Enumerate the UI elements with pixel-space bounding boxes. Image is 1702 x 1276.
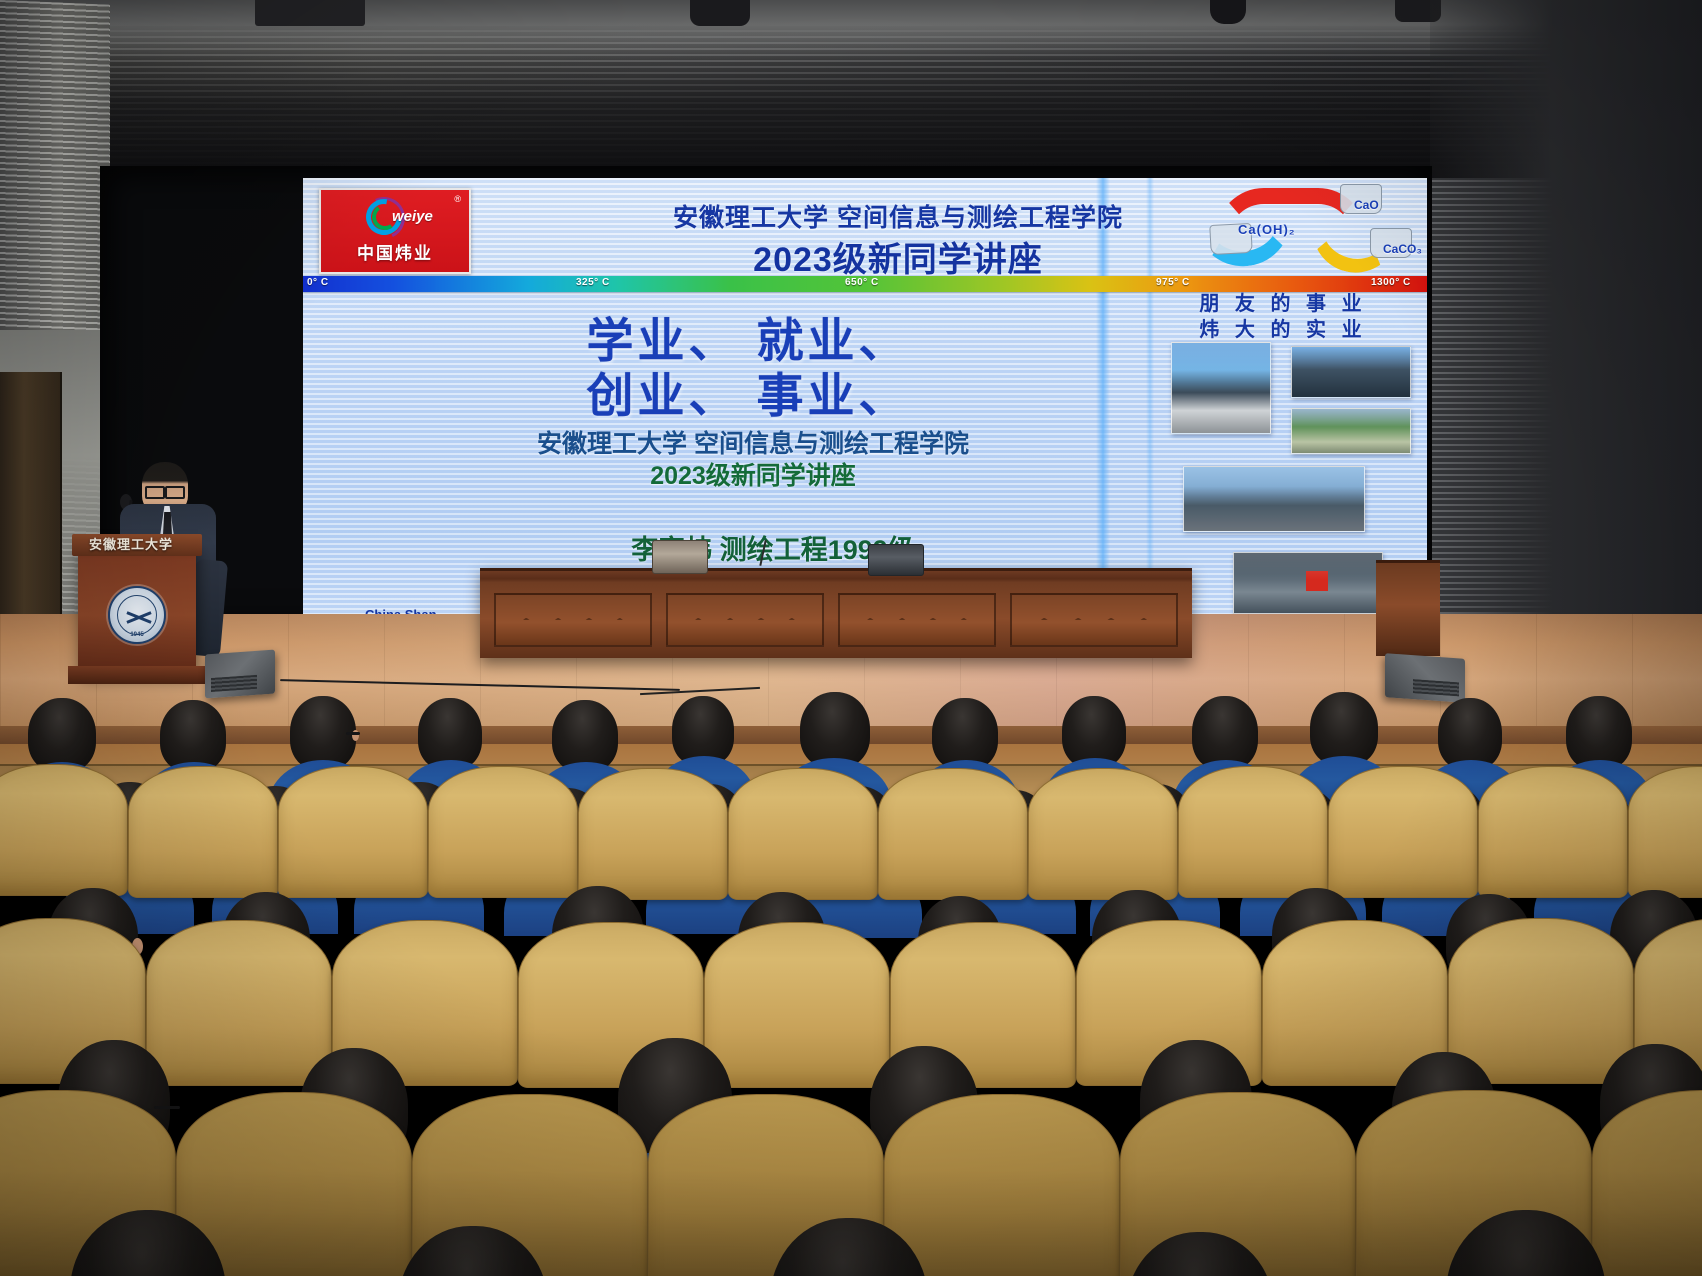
auditorium-seat	[884, 1094, 1120, 1276]
temp-label-325: 325° C	[576, 277, 610, 288]
podium-top-ledge: 安徽理工大学	[72, 534, 202, 556]
lecture-hall-scene: ® weiye 中国炜业 安徽理工大学 空间信息与测绘工程学院 2023级新同学…	[0, 0, 1702, 1276]
podium-base	[68, 666, 206, 684]
stage-chair-2	[868, 544, 924, 576]
auditorium-seat	[146, 920, 332, 1086]
subtitle-line1: 安徽理工大学 空间信息与测绘工程学院	[383, 428, 1123, 460]
slide-photo-aerial	[1291, 408, 1411, 454]
auditorium-seat	[1628, 766, 1702, 898]
table-panel-1	[494, 593, 652, 647]
auditorium-seat	[428, 766, 578, 898]
auditorium-seat	[1448, 918, 1634, 1084]
stage-chair-1	[652, 540, 708, 574]
main-title-line1: 学业、 就业、	[423, 314, 1073, 369]
subtitle-line2: 2023级新同学讲座	[383, 460, 1123, 492]
auditorium-seat	[278, 766, 428, 898]
ceiling-light	[690, 0, 750, 26]
slide-photo-2	[1291, 346, 1411, 398]
slide-slogan: 朋 友 的 事 业 炜 大 的 实 业	[1158, 292, 1408, 343]
auditorium-seat	[578, 768, 728, 900]
auditorium-seat	[878, 768, 1028, 900]
ceiling-camera-icon	[1210, 0, 1246, 24]
slide-photo-night	[1233, 552, 1383, 614]
auditorium-seat	[1028, 768, 1178, 900]
podium: 安徽理工大学 1945	[78, 544, 196, 674]
logo-rings-icon: weiye	[358, 197, 432, 237]
presentation-slide: ® weiye 中国炜业 安徽理工大学 空间信息与测绘工程学院 2023级新同学…	[303, 178, 1427, 622]
university-seal: 1945	[108, 586, 166, 644]
audience-area	[0, 740, 1702, 1276]
logo-brand-cn: 中国炜业	[357, 239, 433, 264]
ceiling-projector-box	[255, 0, 365, 26]
slogan-line1: 朋 友 的 事 业	[1158, 292, 1408, 318]
table-panel-3	[838, 593, 996, 647]
table-panel-4	[1010, 593, 1178, 647]
slogan-line2: 炜 大 的 实 业	[1158, 318, 1408, 344]
temp-label-650: 650° C	[845, 277, 879, 288]
auditorium-seat	[1328, 766, 1478, 898]
formula-caco3: CaCO₃	[1383, 242, 1422, 256]
auditorium-seat	[1478, 766, 1628, 898]
table-panel-2	[666, 593, 824, 647]
right-wall-dark	[1430, 0, 1702, 700]
auditorium-seat	[0, 764, 128, 896]
auditorium-seat	[128, 766, 278, 898]
main-title-line2: 创业、 事业、	[423, 369, 1073, 424]
formula-cao: CaO	[1354, 198, 1379, 212]
slide-photo-1	[1171, 342, 1271, 434]
stage-monitor-left	[205, 650, 275, 699]
slide-main-title: 学业、 就业、 创业、 事业、	[423, 314, 1073, 423]
speaker-glasses-icon	[143, 486, 187, 495]
weiye-logo: ® weiye 中国炜业	[319, 188, 471, 274]
formula-ca-oh2: Ca(OH)₂	[1238, 222, 1296, 237]
logo-brand-latin: weiye	[392, 208, 433, 225]
auditorium-seat	[728, 768, 878, 900]
slide-subtitle: 安徽理工大学 空间信息与测绘工程学院 2023级新同学讲座	[383, 428, 1123, 492]
auditorium-seat	[704, 922, 890, 1088]
presenter-line1: 李家炜 测绘工程1999级	[423, 533, 1123, 568]
conference-table	[480, 568, 1192, 658]
crossed-picks-icon	[126, 608, 152, 626]
seal-year: 1945	[110, 632, 164, 638]
temp-label-0: 0° C	[307, 277, 329, 288]
auditorium-seat	[1178, 766, 1328, 898]
podium-name-plate: 安徽理工大学	[72, 534, 190, 553]
stage-table-right	[1376, 560, 1440, 656]
stage-monitor-right	[1385, 653, 1465, 703]
slide-photo-3	[1183, 466, 1365, 532]
registered-mark-icon: ®	[454, 194, 461, 204]
lime-cycle-diagram: Ca(OH)₂ CaO CaCO₃	[1158, 184, 1420, 280]
